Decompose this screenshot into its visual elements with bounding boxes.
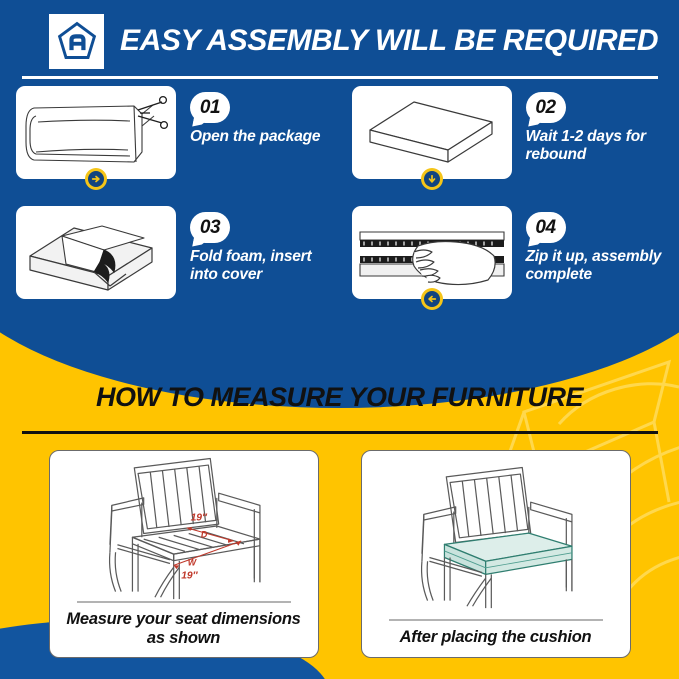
step-02: 02 Wait 1-2 days for rebound [340, 86, 679, 206]
house-pentagon-logo-icon [49, 14, 104, 69]
header-divider [22, 76, 658, 79]
depth-value-label: 19″ [190, 512, 207, 523]
step-label: Open the package [190, 128, 320, 146]
step-number-badge: 03 [190, 212, 230, 243]
header: EASY ASSEMBLY WILL BE REQUIRED [0, 0, 679, 82]
step-label: Fold foam, insert into cover [190, 248, 340, 283]
measure-section-title: HOW TO MEASURE YOUR FURNITURE [0, 382, 679, 413]
step-04-text: 04 Zip it up, assembly complete [526, 206, 679, 283]
chair-with-cushion-icon [362, 451, 630, 619]
arrow-down-icon [421, 168, 443, 190]
step-01: 01 Open the package [0, 86, 340, 206]
arrow-right-icon [85, 168, 107, 190]
measure-card-cushion: After placing the cushion [361, 450, 631, 658]
arrow-left-icon [421, 288, 443, 310]
infographic-poster: EASY ASSEMBLY WILL BE REQUIRED [0, 0, 679, 679]
chair-with-dimensions-icon: 19″ D W 19″ [50, 451, 318, 601]
step-number-badge: 01 [190, 92, 230, 123]
hand-zipping-cover-icon [352, 206, 512, 299]
step-number-badge: 04 [526, 212, 566, 243]
step-label: Zip it up, assembly complete [526, 248, 679, 283]
measure-card-caption: Measure your seat dimensions as shown [50, 603, 318, 658]
step-01-text: 01 Open the package [190, 86, 320, 146]
step-number-badge: 02 [526, 92, 566, 123]
steps-row-2: 03 Fold foam, insert into cover [0, 206, 679, 326]
width-letter-label: W [187, 557, 197, 567]
page-title: EASY ASSEMBLY WILL BE REQUIRED [120, 24, 658, 58]
measure-card-caption: After placing the cushion [390, 621, 602, 657]
wrapped-package-with-scissors-icon [16, 86, 176, 179]
assembly-steps-grid: 01 Open the package [0, 86, 679, 326]
steps-row-1: 01 Open the package [0, 86, 679, 206]
fold-foam-into-cover-icon [16, 206, 176, 299]
step-02-text: 02 Wait 1-2 days for rebound [526, 86, 679, 163]
step-label: Wait 1-2 days for rebound [526, 128, 679, 163]
measure-cards-row: 19″ D W 19″ Measure your seat dimensions… [0, 450, 679, 658]
width-value-label: 19″ [181, 571, 198, 582]
step-03: 03 Fold foam, insert into cover [0, 206, 340, 326]
depth-letter-label: D [200, 529, 207, 539]
step-04: 04 Zip it up, assembly complete [340, 206, 679, 326]
measure-card-dimensions: 19″ D W 19″ Measure your seat dimensions… [49, 450, 319, 658]
foam-slab-icon [352, 86, 512, 179]
step-03-text: 03 Fold foam, insert into cover [190, 206, 340, 283]
measure-section-divider [22, 431, 658, 434]
